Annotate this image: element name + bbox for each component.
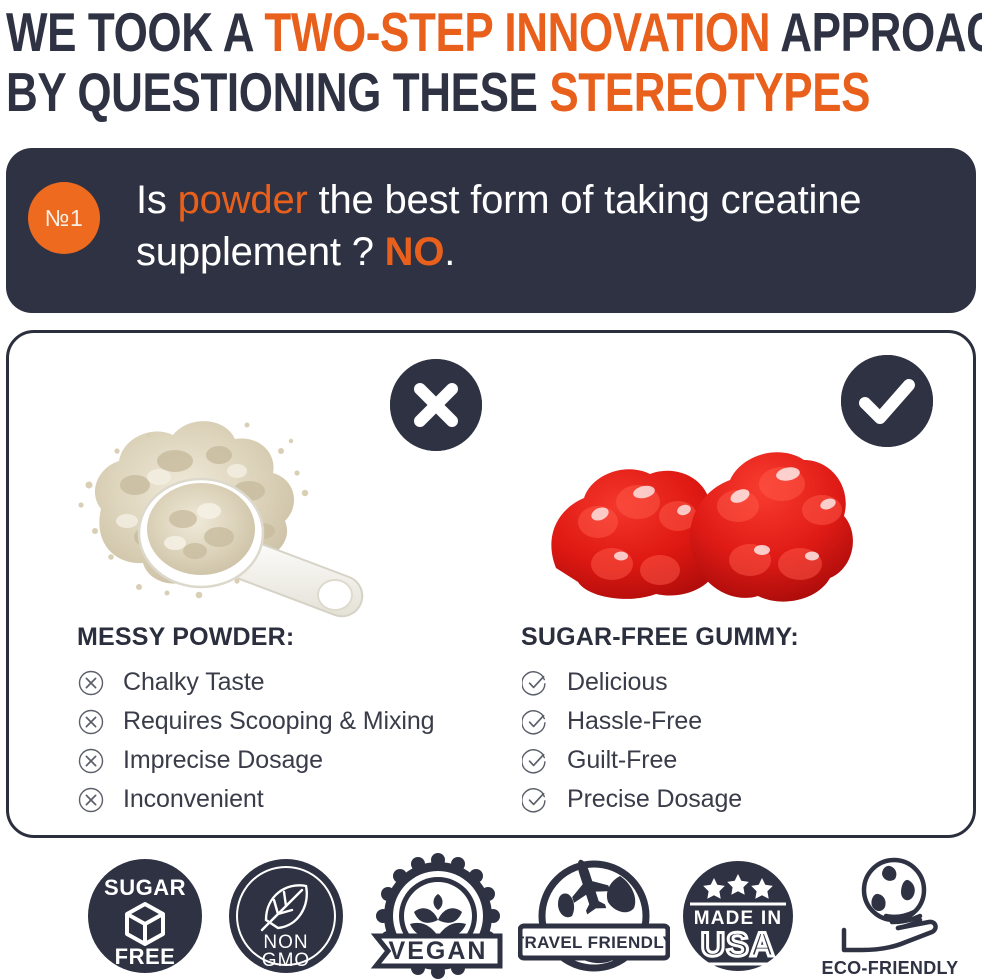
circle-x-icon	[77, 747, 105, 775]
list-item-label: Guilt-Free	[567, 746, 677, 775]
banner-accent-no: NO	[385, 230, 445, 274]
list-item: Guilt-Free	[521, 741, 799, 780]
trust-badge-row: SUGAR FREE NON GMO	[0, 852, 982, 980]
vegan-badge: VEGAN	[368, 852, 496, 980]
headline-text-1b: APPROACH	[770, 1, 982, 63]
list-item-label: Hassle-Free	[567, 707, 702, 736]
made-in-usa-badge: MADE IN USA	[674, 852, 802, 980]
list-item-label: Inconvenient	[123, 785, 264, 814]
powder-drawbacks-list: MESSY POWDER: Chalky Taste	[77, 623, 434, 819]
cross-icon	[390, 359, 482, 451]
list-item: Delicious	[521, 663, 799, 702]
circle-x-icon	[77, 708, 105, 736]
sugar-free-badge: SUGAR FREE	[81, 852, 209, 980]
list-item-label: Imprecise Dosage	[123, 746, 323, 775]
list-item: Inconvenient	[77, 780, 434, 819]
circle-check-icon	[521, 669, 549, 697]
circle-check-icon	[521, 708, 549, 736]
banner-accent-powder: powder	[178, 178, 308, 222]
step-number-label: №1	[45, 205, 83, 232]
svg-text:SUGAR: SUGAR	[104, 875, 186, 900]
banner-text-a: Is	[136, 178, 178, 222]
list-item-label: Chalky Taste	[123, 668, 264, 697]
svg-text:USA: USA	[701, 926, 776, 964]
headline-line-2: BY QUESTIONING THESE STEREOTYPES	[6, 62, 782, 122]
headline-line-1: WE TOOK A TWO-STEP INNOVATION APPROACH	[6, 2, 782, 62]
list-item-label: Delicious	[567, 668, 668, 697]
svg-text:FREE: FREE	[115, 944, 176, 969]
creatine-powder-image	[49, 381, 379, 631]
comparison-column-gummy: SUGAR-FREE GUMMY: Delicious H	[491, 333, 973, 835]
gummy-list-title: SUGAR-FREE GUMMY:	[521, 623, 799, 652]
circle-x-icon	[77, 786, 105, 814]
headline-text-1a: WE TOOK A	[6, 1, 264, 63]
question-banner: №1 Is powder the best form of taking cre…	[6, 148, 976, 313]
travel-friendly-badge: TRAVEL FRIENDLY	[518, 852, 670, 980]
circle-check-icon	[521, 747, 549, 775]
step-number-badge: №1	[28, 182, 100, 254]
list-item: Chalky Taste	[77, 663, 434, 702]
svg-text:GMO: GMO	[262, 950, 310, 971]
svg-text:ECO-FRIENDLY: ECO-FRIENDLY	[822, 958, 959, 978]
headline-accent-1: TWO-STEP INNOVATION	[264, 1, 770, 63]
page-headline: WE TOOK A TWO-STEP INNOVATION APPROACH B…	[6, 2, 976, 122]
list-item-label: Requires Scooping & Mixing	[123, 707, 434, 736]
banner-text-c: .	[444, 230, 455, 274]
circle-x-icon	[77, 669, 105, 697]
gummy-benefits-list: SUGAR-FREE GUMMY: Delicious H	[521, 623, 799, 819]
svg-text:TRAVEL FRIENDLY: TRAVEL FRIENDLY	[518, 933, 670, 952]
list-item: Imprecise Dosage	[77, 741, 434, 780]
list-item-label: Precise Dosage	[567, 785, 742, 814]
comparison-card: MESSY POWDER: Chalky Taste	[6, 330, 976, 838]
list-item: Precise Dosage	[521, 780, 799, 819]
svg-text:VEGAN: VEGAN	[389, 937, 488, 965]
powder-list-title: MESSY POWDER:	[77, 623, 434, 652]
non-gmo-badge: NON GMO	[222, 852, 350, 980]
list-item: Requires Scooping & Mixing	[77, 702, 434, 741]
comparison-column-powder: MESSY POWDER: Chalky Taste	[9, 333, 491, 835]
banner-question-text: Is powder the best form of taking creati…	[136, 174, 936, 278]
circle-check-icon	[521, 786, 549, 814]
eco-friendly-badge: ECO-FRIENDLY	[820, 852, 960, 980]
headline-text-2a: BY QUESTIONING THESE	[6, 61, 549, 123]
list-item: Hassle-Free	[521, 702, 799, 741]
red-gummies-image	[526, 418, 876, 633]
headline-accent-2: STEREOTYPES	[549, 61, 870, 123]
